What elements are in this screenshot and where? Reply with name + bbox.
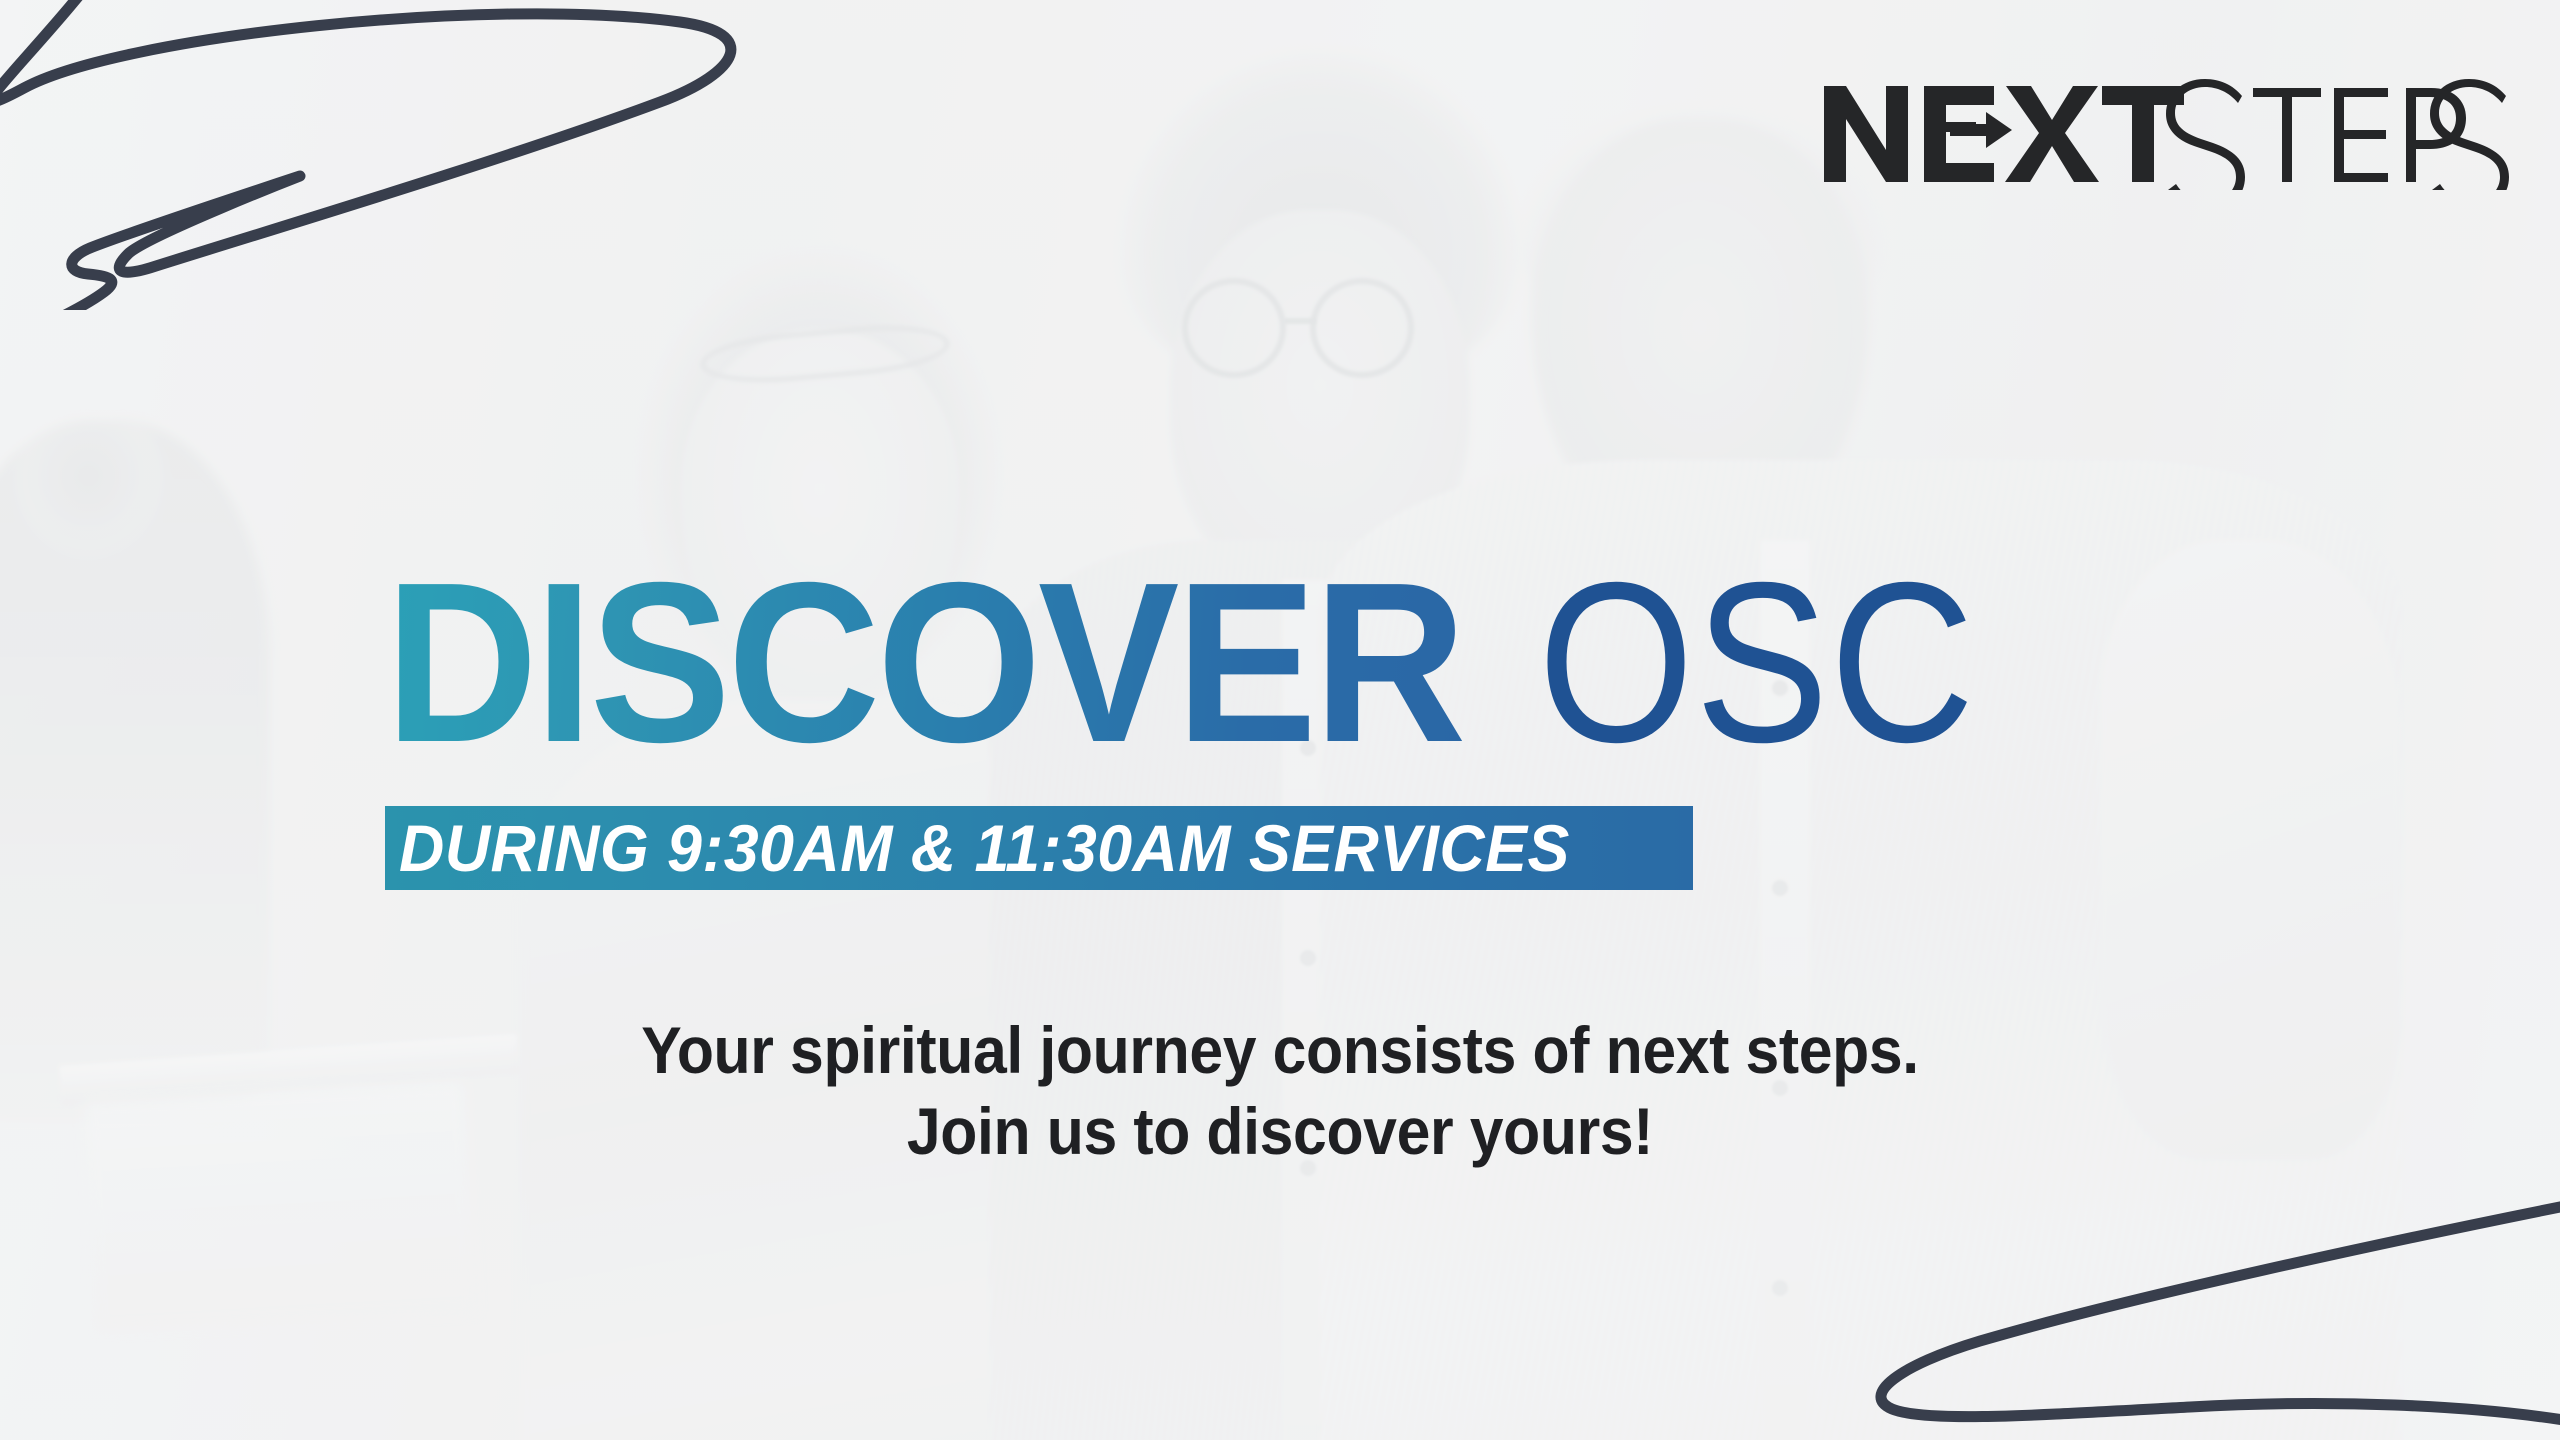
headline-primary-discover: DISCOVER	[385, 565, 1463, 761]
headline-block: DISCOVER OSC	[385, 565, 2285, 761]
nextsteps-wordmark-icon	[1820, 78, 2520, 190]
poster-canvas: NEXT STEPS DISCOVER OSC DURING 9:30AM & …	[0, 0, 2560, 1440]
headline: DISCOVER OSC	[385, 565, 2285, 761]
body-copy-line-1: Your spiritual journey consists of next …	[102, 1010, 2457, 1091]
service-times-text: DURING 9:30AM & 11:30AM SERVICES	[399, 810, 1570, 886]
service-times-bar: DURING 9:30AM & 11:30AM SERVICES	[385, 806, 1693, 890]
body-copy-line-2: Join us to discover yours!	[102, 1091, 2457, 1172]
headline-secondary-osc: OSC	[1538, 565, 1975, 761]
nextsteps-logo[interactable]: NEXT STEPS	[1820, 78, 2520, 190]
body-copy: Your spiritual journey consists of next …	[0, 1010, 2560, 1171]
